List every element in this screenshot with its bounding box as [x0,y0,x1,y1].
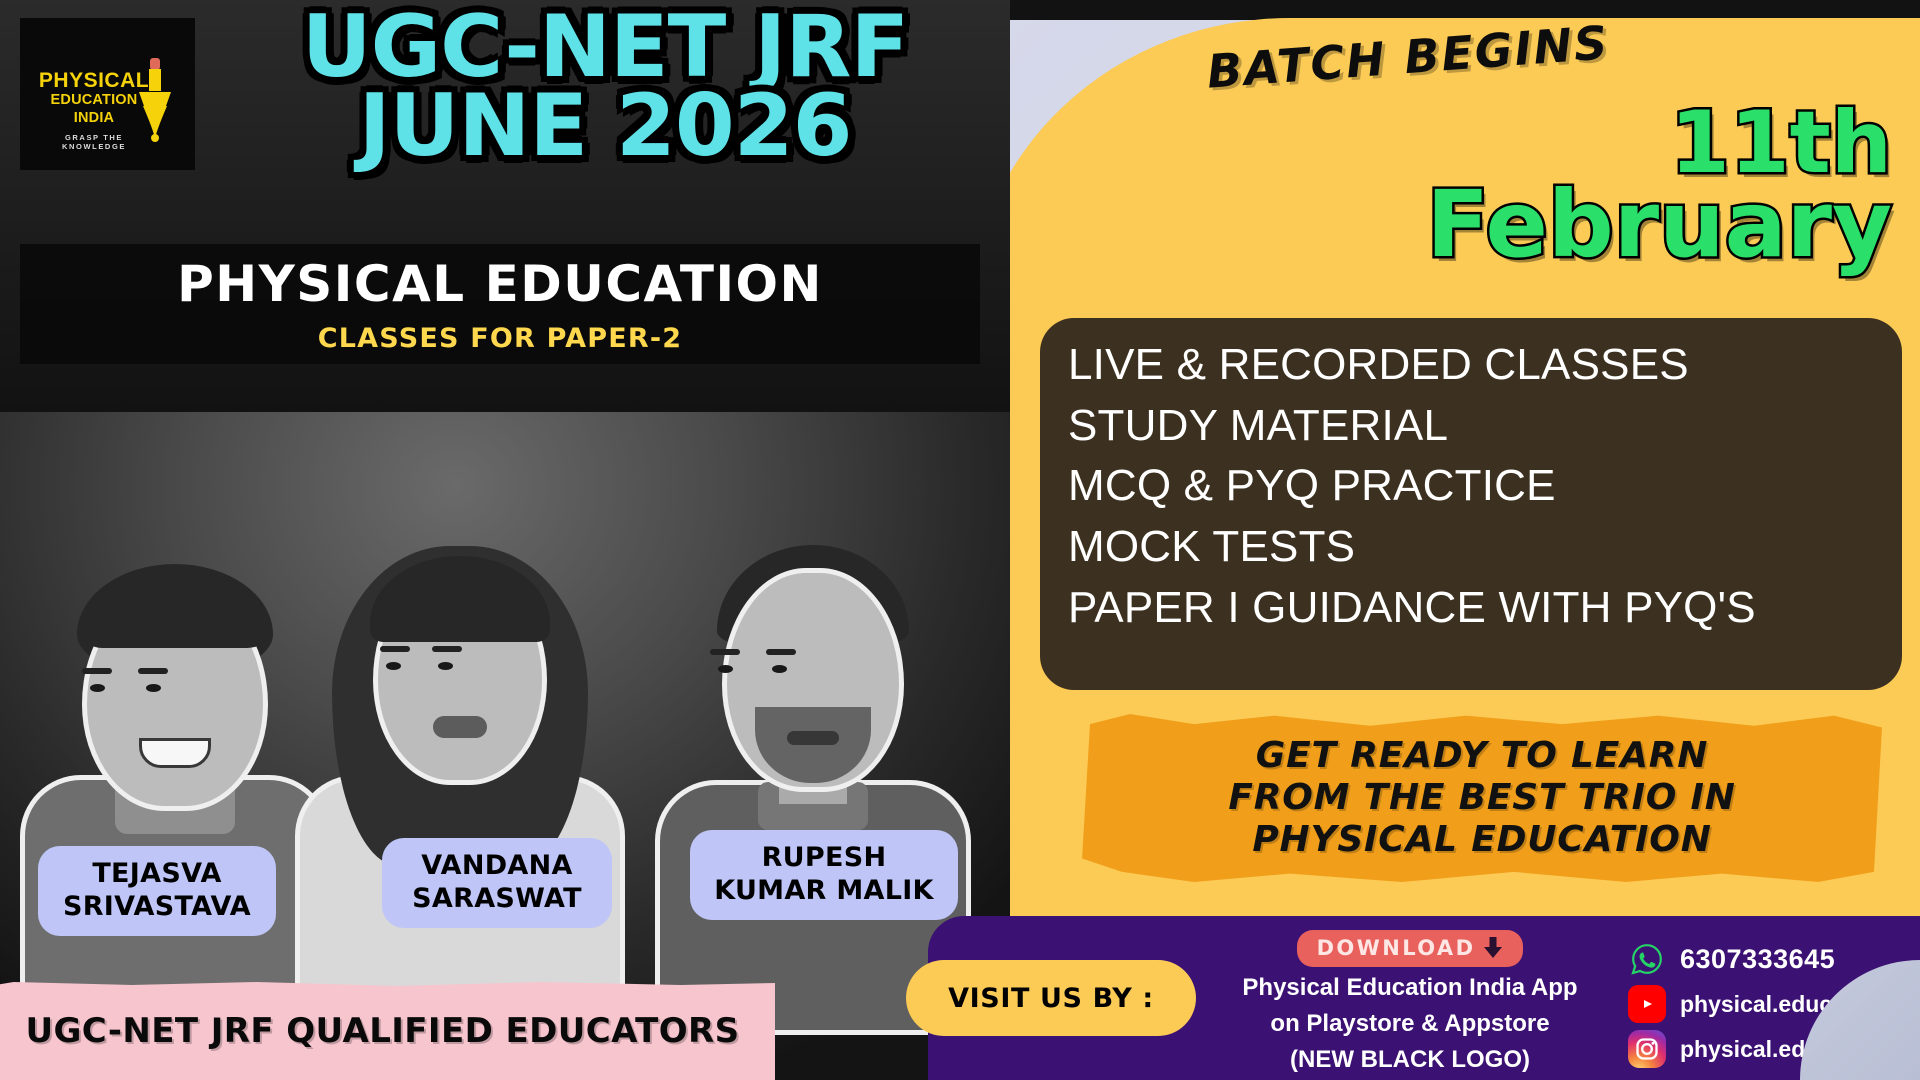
educator-3-last-name: KUMAR MALIK [714,875,934,908]
educator-photo-2 [280,510,640,1030]
batch-date-month: February [1426,183,1892,268]
qualified-educators-text: UGC-NET JRF QUALIFIED EDUCATORS [25,1011,739,1051]
feature-item: LIVE & RECORDED CLASSES [1068,342,1874,389]
tagline-banner: GET READY TO LEARN FROM THE BEST TRIO IN… [1082,714,1882,882]
whatsapp-icon [1628,940,1666,978]
educator-photos [0,470,1010,1030]
feature-item: STUDY MATERIAL [1068,403,1874,450]
instagram-icon [1628,1030,1666,1068]
features-list: LIVE & RECORDED CLASSES STUDY MATERIAL M… [1068,342,1874,631]
app-promo: DOWNLOAD Physical Education India App on… [1210,930,1610,1076]
subject-banner: PHYSICAL EDUCATION CLASSES FOR PAPER-2 [20,244,980,364]
feature-item: PAPER I GUIDANCE WITH PYQ'S [1068,585,1874,632]
headline-line-2: JUNE 2026 [200,87,1010,166]
youtube-icon [1628,985,1666,1023]
educator-3-first-name: RUPESH [762,842,887,875]
tagline-line-2: FROM THE BEST TRIO IN [1228,777,1735,819]
whatsapp-number: 6307333645 [1680,944,1835,975]
left-panel: PHYSICAL EDUCATION INDIA GRASP THE KNOWL… [0,0,1010,1080]
educator-badge-3: RUPESH KUMAR MALIK [690,830,958,920]
tagline-line-1: GET READY TO LEARN [1256,735,1708,777]
educator-2-first-name: VANDANA [421,850,572,883]
educator-1-last-name: SRIVASTAVA [63,891,251,924]
app-name-line: Physical Education India App [1210,972,1610,1003]
contact-bar: VISIT US BY : DOWNLOAD Physical Educatio… [928,916,1920,1080]
educator-2-last-name: SARASWAT [412,883,582,916]
app-stores-line: on Playstore & Appstore [1210,1008,1610,1039]
feature-item: MCQ & PYQ PRACTICE [1068,463,1874,510]
torch-icon [133,56,177,142]
top-black-edge [1010,0,1920,20]
page-title: UGC-NET JRF JUNE 2026 [200,8,1010,166]
educator-badge-2: VANDANA SARASWAT [382,838,612,928]
brand-logo: PHYSICAL EDUCATION INDIA GRASP THE KNOWL… [20,18,195,170]
subject-paper-label: CLASSES FOR PAPER-2 [318,323,683,354]
feature-item: MOCK TESTS [1068,524,1874,571]
educator-badge-1: TEJASVA SRIVASTAVA [38,846,276,936]
download-badge[interactable]: DOWNLOAD [1297,930,1524,967]
batch-start-date: 11th February [1426,104,1892,268]
download-label: DOWNLOAD [1317,936,1476,960]
promo-poster: PHYSICAL EDUCATION INDIA GRASP THE KNOWL… [0,0,1920,1080]
features-card: LIVE & RECORDED CLASSES STUDY MATERIAL M… [1040,318,1902,690]
subject-title: PHYSICAL EDUCATION [177,255,823,313]
visit-us-label: VISIT US BY : [948,983,1154,1014]
visit-us-button[interactable]: VISIT US BY : [906,960,1196,1036]
qualified-educators-banner: UGC-NET JRF QUALIFIED EDUCATORS [0,982,775,1080]
tagline-line-3: PHYSICAL EDUCATION [1252,819,1711,861]
download-arrow-icon [1483,937,1503,959]
app-logo-note-line: (NEW BLACK LOGO) [1210,1044,1610,1075]
educator-1-first-name: TEJASVA [92,858,221,891]
